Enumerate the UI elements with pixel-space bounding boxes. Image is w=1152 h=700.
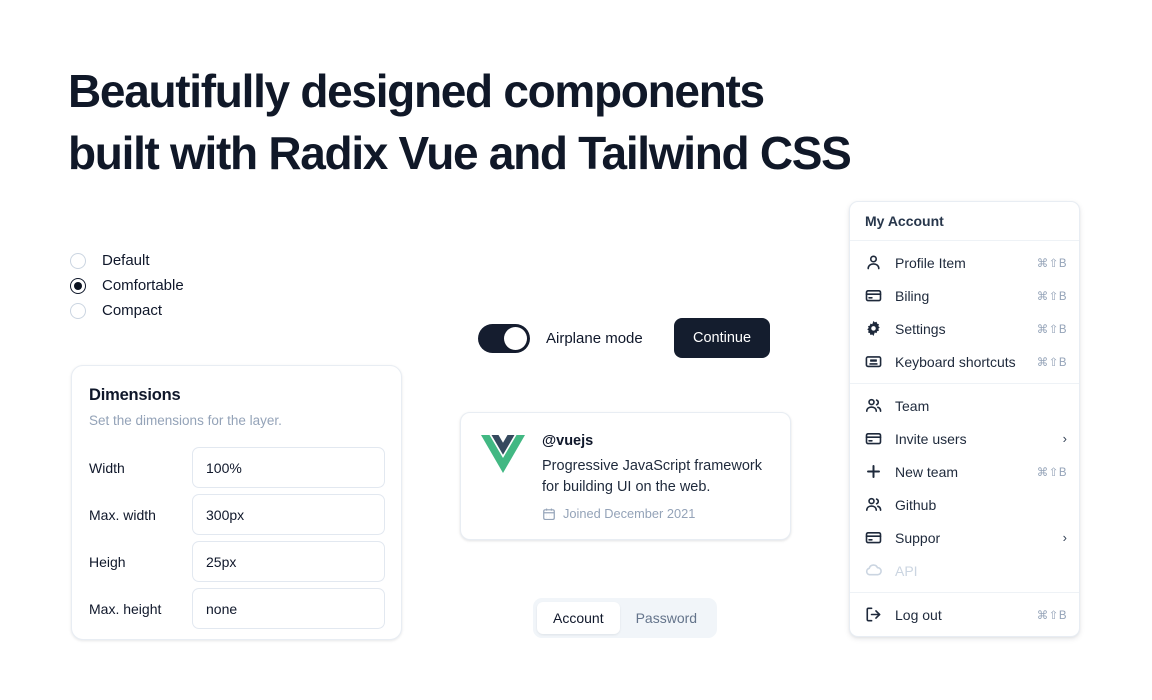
menu-group: Profile Item⌘⇧BBiling⌘⇧BSettings⌘⇧BKeybo… xyxy=(850,241,1079,383)
dimensions-card: Dimensions Set the dimensions for the la… xyxy=(71,365,402,640)
menu-item-label: Invite users xyxy=(895,431,1063,447)
vue-logo-icon xyxy=(481,435,525,475)
menu-item-shortcut: ⌘⇧B xyxy=(1037,289,1067,303)
vue-joined-label: Joined December 2021 xyxy=(563,506,695,521)
dimensions-field-input[interactable]: 300px xyxy=(192,494,385,535)
dimensions-field-label: Width xyxy=(89,460,192,476)
menu-item-shortcut: ⌘⇧B xyxy=(1037,465,1067,479)
menu-item-label: API xyxy=(895,563,1067,579)
menu-item-label: Biling xyxy=(895,288,1037,304)
airplane-mode-row: Airplane mode xyxy=(478,324,643,353)
dimensions-field-label: Max. height xyxy=(89,601,192,617)
dimensions-card-title: Dimensions xyxy=(89,386,385,405)
menu-item-team[interactable]: Team xyxy=(850,389,1079,422)
dimensions-field-row: Heigh25px xyxy=(89,541,385,582)
logout-icon xyxy=(865,606,882,623)
dimensions-field-list: Width100%Max. width300pxHeigh25pxMax. he… xyxy=(89,447,385,629)
radio-indicator-icon[interactable] xyxy=(70,278,86,294)
users-icon xyxy=(865,496,882,513)
menu-item-shortcut: ⌘⇧B xyxy=(1037,355,1067,369)
menu-item-label: Team xyxy=(895,398,1067,414)
radio-indicator-icon[interactable] xyxy=(70,253,86,269)
menu-item-label: Keyboard shortcuts xyxy=(895,354,1037,370)
plus-icon xyxy=(865,463,882,480)
menu-item-label: Suppor xyxy=(895,530,1063,546)
menu-item-shortcut: ⌘⇧B xyxy=(1037,322,1067,336)
menu-item-profile-item[interactable]: Profile Item⌘⇧B xyxy=(850,246,1079,279)
radio-indicator-icon[interactable] xyxy=(70,303,86,319)
menu-item-settings[interactable]: Settings⌘⇧B xyxy=(850,312,1079,345)
radio-option-comfortable[interactable]: Comfortable xyxy=(70,273,184,298)
users-icon xyxy=(865,397,882,414)
page-title-line-2: built with Radix Vue and Tailwind CSS xyxy=(68,122,1028,184)
calendar-icon xyxy=(542,507,556,521)
menu-group: TeamInvite users›New team⌘⇧BGithubSuppor… xyxy=(850,384,1079,592)
gear-icon xyxy=(865,320,882,337)
dimensions-field-input[interactable]: 100% xyxy=(192,447,385,488)
menu-group: Log out⌘⇧B xyxy=(850,593,1079,636)
menu-item-biling[interactable]: Biling⌘⇧B xyxy=(850,279,1079,312)
account-dropdown-menu: My Account Profile Item⌘⇧BBiling⌘⇧BSetti… xyxy=(849,201,1080,637)
dimensions-field-input[interactable]: 25px xyxy=(192,541,385,582)
radio-option-label: Comfortable xyxy=(102,277,184,294)
menu-item-shortcut: ⌘⇧B xyxy=(1037,256,1067,270)
switch-knob xyxy=(504,327,527,350)
menu-header-label: My Account xyxy=(850,202,1079,240)
tab-account[interactable]: Account xyxy=(537,602,620,634)
radio-option-default[interactable]: Default xyxy=(70,248,184,273)
keyboard-icon xyxy=(865,353,882,370)
menu-item-github[interactable]: Github xyxy=(850,488,1079,521)
continue-button[interactable]: Continue xyxy=(674,318,770,358)
vue-description: Progressive JavaScript framework for bui… xyxy=(542,456,782,498)
dimensions-field-label: Heigh xyxy=(89,554,192,570)
credit-card-icon xyxy=(865,430,882,447)
settings-tabs: AccountPassword xyxy=(533,598,717,638)
radio-option-compact[interactable]: Compact xyxy=(70,298,184,323)
menu-item-invite-users[interactable]: Invite users› xyxy=(850,422,1079,455)
vue-joined-row: Joined December 2021 xyxy=(542,506,782,521)
page-title: Beautifully designed components built wi… xyxy=(68,60,1028,184)
credit-card-icon xyxy=(865,287,882,304)
vue-handle: @vuejs xyxy=(542,433,782,449)
dimensions-field-row: Width100% xyxy=(89,447,385,488)
credit-card-icon xyxy=(865,529,882,546)
menu-item-api: API xyxy=(850,554,1079,587)
dimensions-field-label: Max. width xyxy=(89,507,192,523)
cloud-icon xyxy=(865,562,882,579)
user-icon xyxy=(865,254,882,271)
menu-item-keyboard-shortcuts[interactable]: Keyboard shortcuts⌘⇧B xyxy=(850,345,1079,378)
menu-item-suppor[interactable]: Suppor› xyxy=(850,521,1079,554)
menu-item-new-team[interactable]: New team⌘⇧B xyxy=(850,455,1079,488)
airplane-mode-switch[interactable] xyxy=(478,324,530,353)
menu-item-label: Github xyxy=(895,497,1067,513)
menu-item-label: New team xyxy=(895,464,1037,480)
vue-profile-card: @vuejs Progressive JavaScript framework … xyxy=(460,412,791,540)
page-root: Beautifully designed components built wi… xyxy=(0,0,1152,700)
chevron-right-icon: › xyxy=(1063,531,1067,544)
dimensions-field-row: Max. heightnone xyxy=(89,588,385,629)
dimensions-field-row: Max. width300px xyxy=(89,494,385,535)
radio-option-label: Default xyxy=(102,252,150,269)
menu-item-label: Profile Item xyxy=(895,255,1037,271)
radio-option-label: Compact xyxy=(102,302,162,319)
menu-item-log-out[interactable]: Log out⌘⇧B xyxy=(850,598,1079,631)
menu-item-label: Settings xyxy=(895,321,1037,337)
tab-password[interactable]: Password xyxy=(620,602,713,634)
airplane-mode-label: Airplane mode xyxy=(546,330,643,347)
menu-item-shortcut: ⌘⇧B xyxy=(1037,608,1067,622)
dimensions-card-subtitle: Set the dimensions for the layer. xyxy=(89,413,385,428)
menu-group-list: Profile Item⌘⇧BBiling⌘⇧BSettings⌘⇧BKeybo… xyxy=(850,240,1079,636)
dimensions-field-input[interactable]: none xyxy=(192,588,385,629)
density-radio-group[interactable]: DefaultComfortableCompact xyxy=(70,248,184,323)
vue-profile-body: @vuejs Progressive JavaScript framework … xyxy=(542,433,782,539)
chevron-right-icon: › xyxy=(1063,432,1067,445)
menu-item-label: Log out xyxy=(895,607,1037,623)
page-title-line-1: Beautifully designed components xyxy=(68,65,764,117)
